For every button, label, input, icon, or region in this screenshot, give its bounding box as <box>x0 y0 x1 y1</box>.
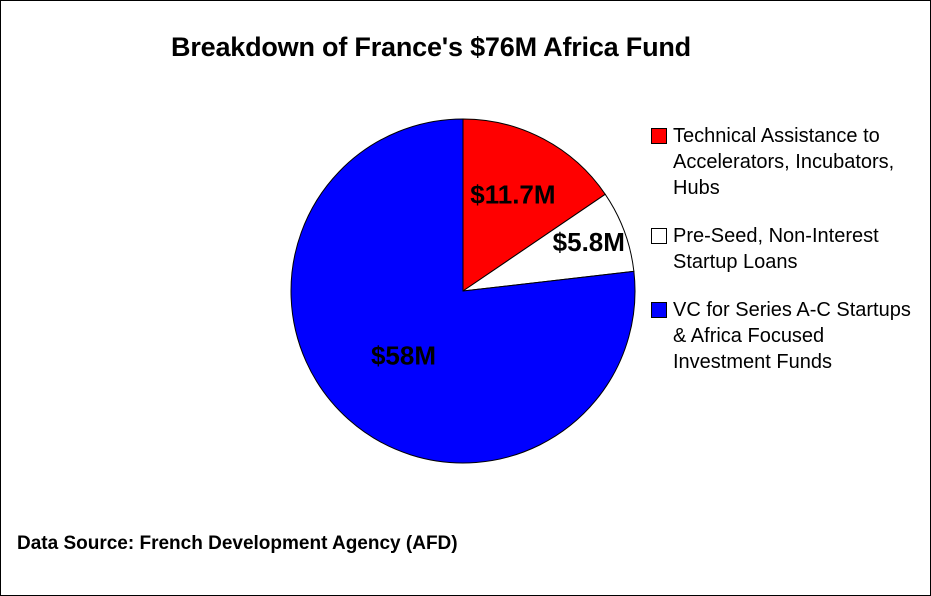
legend-swatch-pre-seed-loans <box>651 228 667 244</box>
legend-label-technical-assistance: Technical Assistance to Accelerators, In… <box>673 123 923 201</box>
pie-slice[interactable] <box>291 119 635 463</box>
pie-slice-value-label: $58M <box>371 341 436 371</box>
pie-slices-group <box>291 119 635 463</box>
pie-slice-value-label: $11.7M <box>470 180 555 210</box>
pie-slice-labels-group: $11.7M$5.8M$58M <box>371 180 625 371</box>
legend-item-vc-series-a-c[interactable]: VC for Series A-C Startups & Africa Focu… <box>651 297 926 375</box>
pie-slice-value-label: $5.8M <box>553 227 625 257</box>
legend-swatch-vc-series-a-c <box>651 302 667 318</box>
data-source-note: Data Source: French Development Agency (… <box>17 533 458 555</box>
legend-label-vc-series-a-c: VC for Series A-C Startups & Africa Focu… <box>673 297 923 375</box>
legend-swatch-technical-assistance <box>651 128 667 144</box>
legend-item-technical-assistance[interactable]: Technical Assistance to Accelerators, In… <box>651 123 926 201</box>
legend-item-pre-seed-loans[interactable]: Pre-Seed, Non-Interest Startup Loans <box>651 223 926 275</box>
chart-legend: Technical Assistance to Accelerators, In… <box>651 123 926 397</box>
pie-chart-figure: Breakdown of France's $76M Africa Fund $… <box>0 0 931 596</box>
pie-slice[interactable] <box>463 119 605 291</box>
chart-title: Breakdown of France's $76M Africa Fund <box>1 32 861 63</box>
pie-slice[interactable] <box>463 194 634 291</box>
legend-label-pre-seed-loans: Pre-Seed, Non-Interest Startup Loans <box>673 223 923 275</box>
